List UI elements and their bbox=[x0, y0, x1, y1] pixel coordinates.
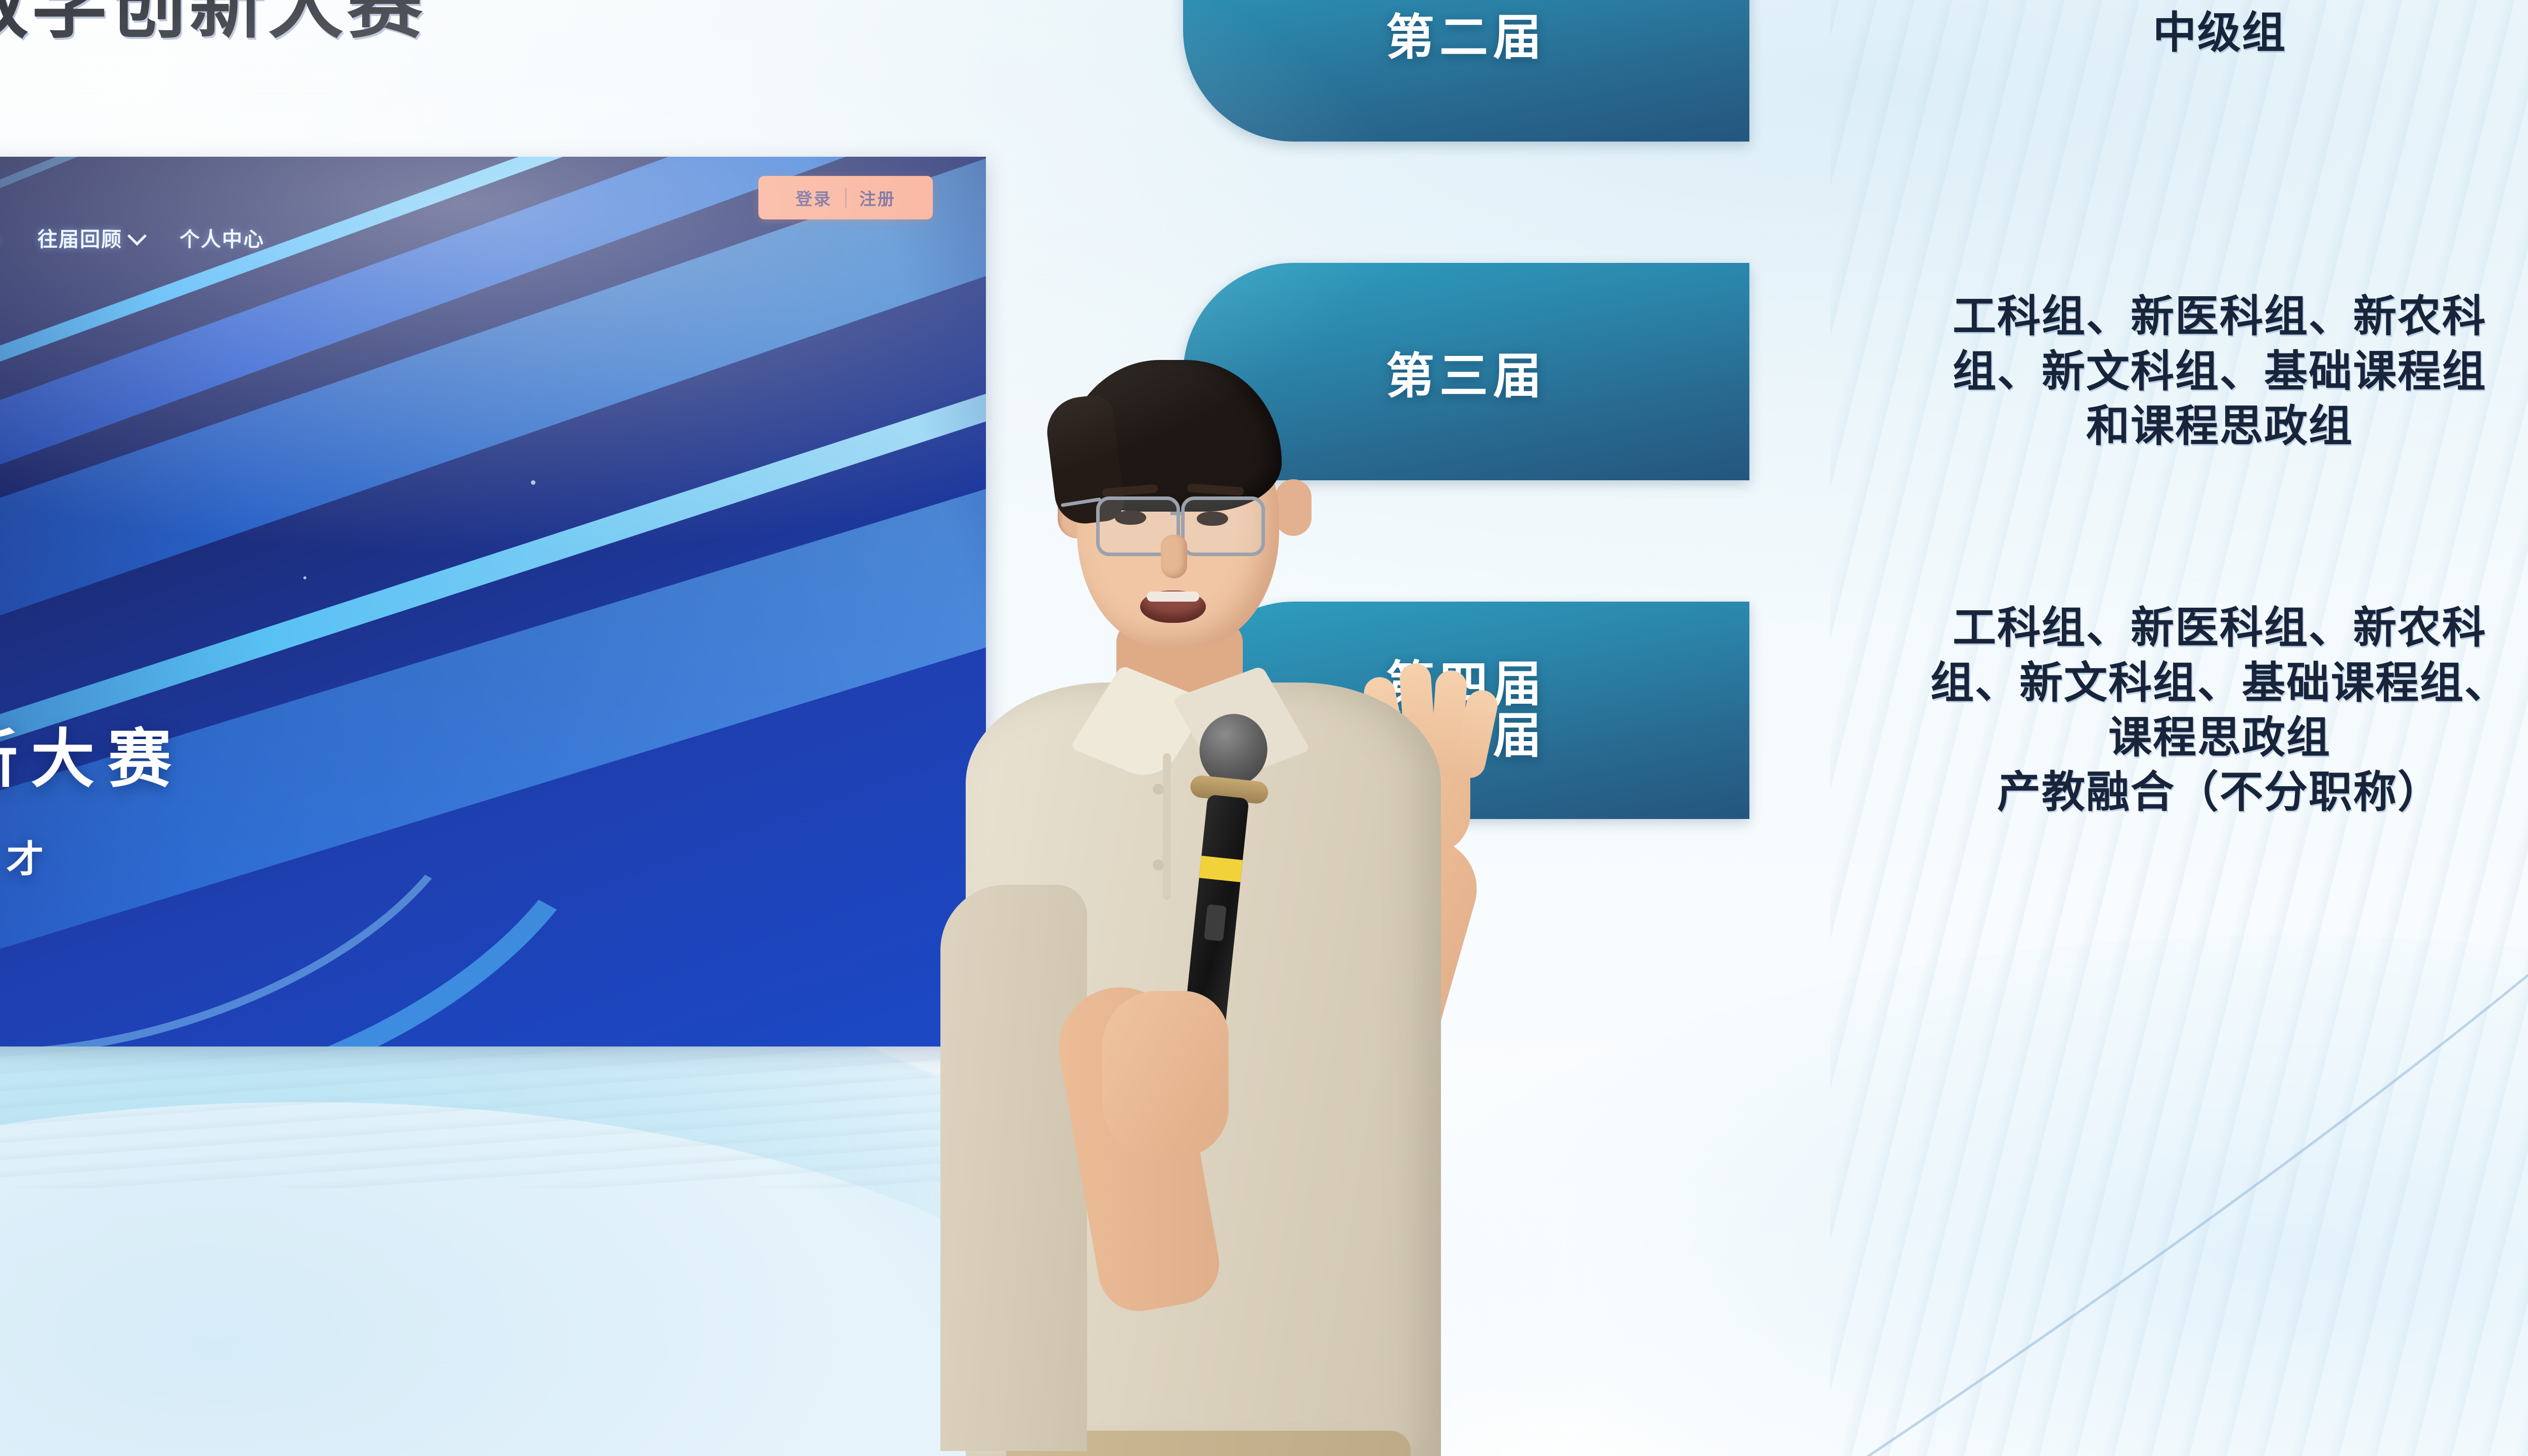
speaker-ear-right bbox=[1275, 479, 1312, 536]
nav-item-past-editions[interactable]: 往届回顾 bbox=[37, 223, 142, 252]
speaker-hand-holding-microphone bbox=[1102, 991, 1229, 1158]
site-hero-title: 师 教学创新大赛 bbox=[0, 708, 185, 800]
auth-button-group[interactable]: 登录 注册 bbox=[758, 176, 933, 219]
edition-tab: 第二届 bbox=[1183, 0, 1749, 142]
group-line: 课程思政组 bbox=[2108, 713, 2331, 762]
group-line: 工科组、新医科组、新农科 bbox=[1953, 604, 2487, 652]
table-row: 第二届 中级组 bbox=[1183, 0, 2528, 263]
group-line: 组、新文科组、基础课程组、 bbox=[1930, 659, 2509, 707]
group-line: 组、新文科组、基础课程组 bbox=[1953, 347, 2487, 396]
edition-groups-cell: 工科组、新医科组、新农科 组、新文科组、基础课程组、 课程思政组 产教融合（不分… bbox=[1780, 602, 2528, 819]
edition-groups-cell: 工科组、新医科组、新农科 组、新文科组、基础课程组 和课程思政组 bbox=[1780, 263, 2528, 480]
speaker bbox=[839, 349, 1618, 1456]
speaker-nose bbox=[1161, 535, 1187, 578]
chevron-down-icon bbox=[127, 226, 147, 245]
speaker-teeth bbox=[1147, 591, 1199, 602]
login-button[interactable]: 登录 bbox=[783, 186, 845, 210]
speaker-shirt-placket bbox=[1163, 753, 1171, 900]
glasses-lens-right-icon bbox=[1181, 496, 1265, 556]
site-hero-subtitle: 新 培养一流人才 bbox=[0, 829, 66, 883]
edition-label: 第二届 bbox=[1386, 0, 1547, 68]
glasses-bridge-icon bbox=[1170, 512, 1185, 515]
nav-item-label: 往届回顾 bbox=[37, 223, 122, 252]
website-screenshot-panel: 问 常见问题 下载中心 往届回顾 个人中心 登录 注册 师 教学创新大赛 新 培… bbox=[0, 157, 986, 1046]
microphone-switch bbox=[1204, 904, 1227, 941]
speaker-shirt-button bbox=[1153, 784, 1164, 795]
nav-item-personal-center[interactable]: 个人中心 bbox=[179, 223, 264, 252]
nav-item-label: 个人中心 bbox=[179, 223, 264, 252]
group-line: 中级组 bbox=[2153, 9, 2286, 57]
group-line: 产教融合（不分职称） bbox=[1997, 768, 2442, 816]
page-title: 等教学创新大赛 bbox=[0, 0, 426, 53]
register-button[interactable]: 注册 bbox=[846, 186, 909, 210]
sparkle-icon bbox=[531, 480, 535, 485]
group-line: 和课程思政组 bbox=[2086, 402, 2353, 450]
edition-groups-cell: 中级组 bbox=[1780, 0, 2528, 142]
speaker-shirt-button bbox=[1153, 859, 1164, 871]
microphone-tape bbox=[1199, 856, 1243, 882]
group-line: 工科组、新医科组、新农科 bbox=[1953, 292, 2487, 341]
speaker-left-arm bbox=[940, 885, 1087, 1451]
sparkle-icon bbox=[303, 576, 306, 579]
presentation-photo: 等教学创新大赛 问 常见问题 下载中心 往届回顾 bbox=[0, 0, 2528, 1456]
